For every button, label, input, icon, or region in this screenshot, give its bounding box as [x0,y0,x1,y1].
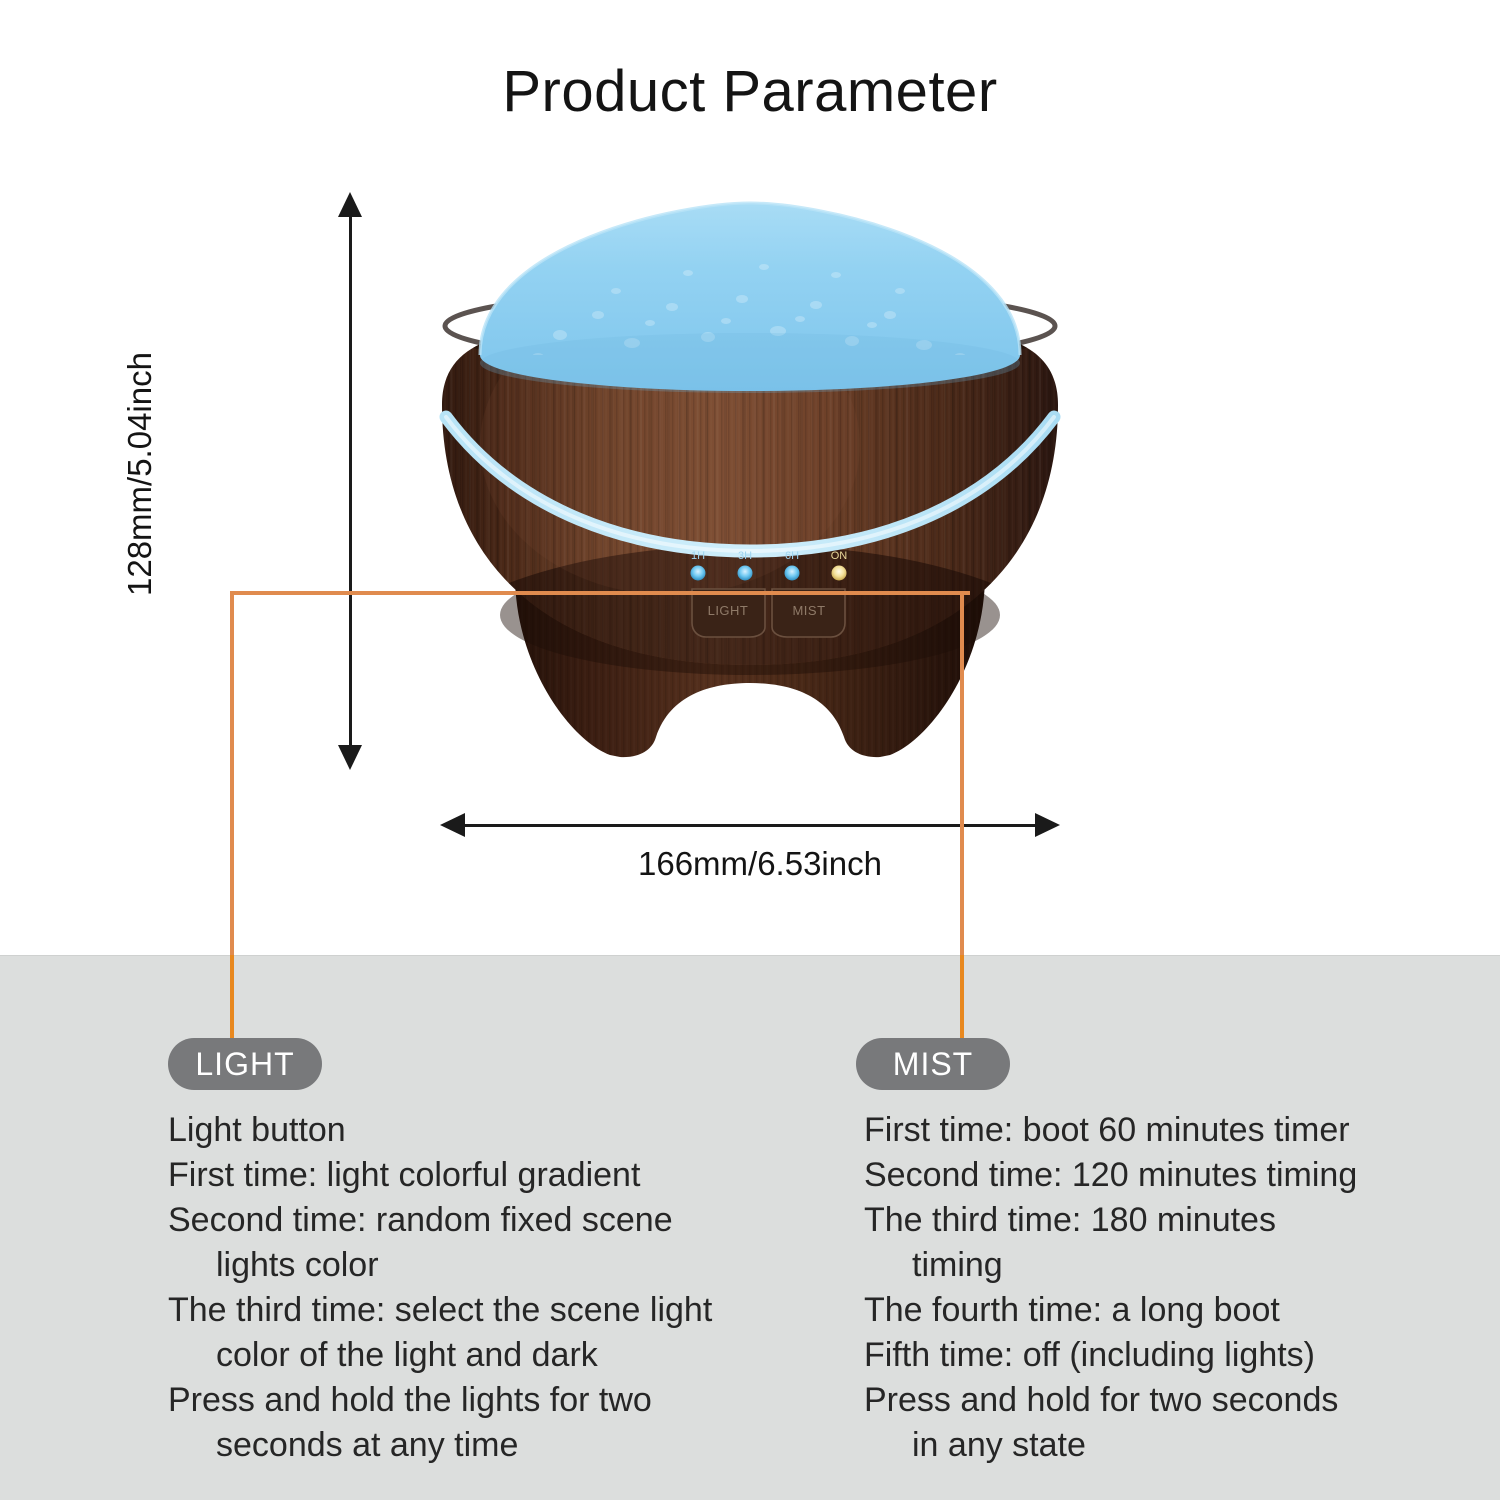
description-line: First time: light colorful gradient [168,1153,788,1198]
description-line: timing [864,1243,1424,1288]
device-mist-button: MIST [772,589,845,637]
width-dimension-label: 166mm/6.53inch [460,845,1060,883]
svg-text:3H: 3H [738,550,752,562]
page-title: Product Parameter [0,58,1500,125]
description-line: color of the light and dark [168,1333,788,1378]
description-line: Light button [168,1108,788,1153]
device-light-button: LIGHT [692,589,765,637]
svg-text:6H: 6H [785,550,799,562]
light-leader-line-horizontal [230,591,970,595]
svg-text:MIST: MIST [792,603,825,618]
description-line: lights color [168,1243,788,1288]
description-line: Press and hold the lights for two [168,1378,788,1423]
height-dimension-label: 128mm/5.04inch [121,274,159,674]
svg-text:LIGHT: LIGHT [708,603,749,618]
light-leader-line-vertical [230,591,234,955]
description-line: Press and hold for two seconds [864,1378,1424,1423]
description-line: in any state [864,1423,1424,1468]
mist-badge: MIST [856,1038,1010,1090]
width-arrow-left-icon [440,813,465,837]
mist-description: First time: boot 60 minutes timerSecond … [864,1108,1424,1468]
description-line: seconds at any time [168,1423,788,1468]
description-line: First time: boot 60 minutes timer [864,1108,1424,1153]
description-line: The third time: select the scene light [168,1288,788,1333]
svg-text:ON: ON [831,550,848,562]
description-line: The fourth time: a long boot [864,1288,1424,1333]
description-line: Fifth time: off (including lights) [864,1333,1424,1378]
product-illustration: 1H 3H 6H ON [420,195,1080,775]
light-leader-line-lower [230,955,234,1043]
dome-cap [480,203,1020,393]
light-description: Light buttonFirst time: light colorful g… [168,1108,788,1468]
height-dimension-line [349,210,352,750]
mist-leader-line-vertical [960,591,964,955]
product-stage: Product Parameter [0,0,1500,955]
description-line: The third time: 180 minutes [864,1198,1424,1243]
product-parameter-infographic: Product Parameter [0,0,1500,1500]
description-line: Second time: random fixed scene [168,1198,788,1243]
light-badge: LIGHT [168,1038,322,1090]
height-arrow-bottom-icon [338,745,362,770]
width-arrow-right-icon [1035,813,1060,837]
mist-leader-line-lower [960,955,964,1043]
description-line: Second time: 120 minutes timing [864,1153,1424,1198]
svg-text:1H: 1H [691,550,705,562]
height-arrow-top-icon [338,192,362,217]
